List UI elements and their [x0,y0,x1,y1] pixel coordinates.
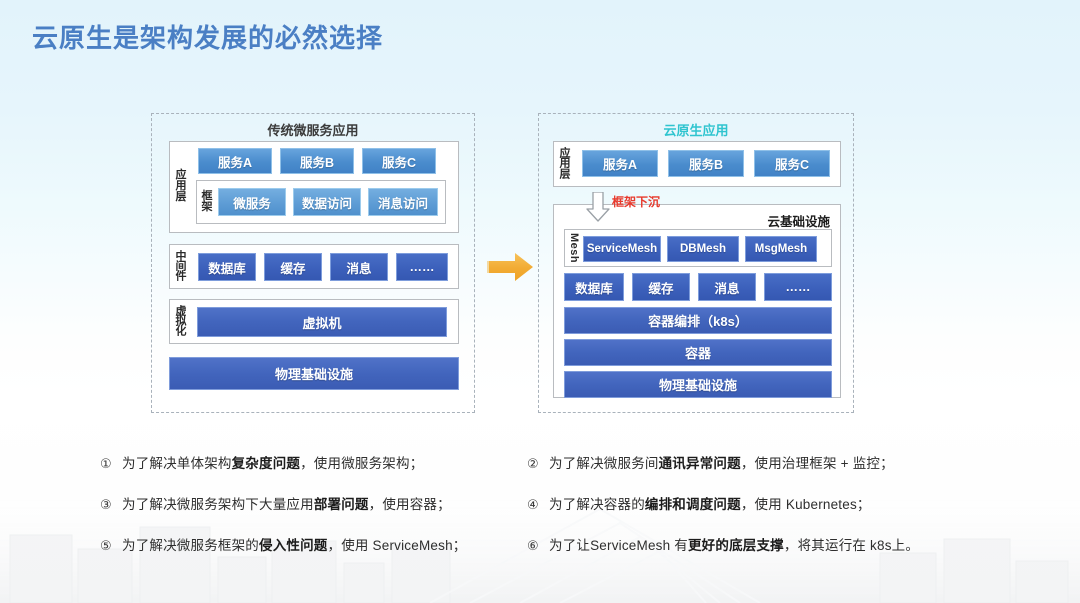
bullet-text-bold: 通讯异常问题 [659,456,741,471]
right-panel-title: 云原生应用 [539,120,853,139]
bullet-text-post: ，使用容器； [369,497,451,512]
bullet-column-left: ① 为了解决单体架构复杂度问题，使用微服务架构； ③ 为了解决微服务架构下大量应… [100,452,540,575]
bullet-item: ① 为了解决单体架构复杂度问题，使用微服务架构； [100,452,540,472]
bullet-text-pre: 为了解决微服务架构下大量应用 [122,497,314,512]
left-service-a[interactable]: 服务A [198,148,272,174]
bullet-text-pre: 为了解决微服务框架的 [122,538,259,553]
right-middleware-database[interactable]: 数据库 [564,273,624,301]
bullet-number: ⑤ [100,538,122,554]
page-title: 云原生是架构发展的必然选择 [32,18,383,55]
right-service-c[interactable]: 服务C [754,150,830,177]
bullet-text-bold: 更好的底层支撑 [688,538,784,553]
left-virtualization-label: 虚 拟 化 [174,306,188,337]
left-middleware-more[interactable]: …… [396,253,448,281]
bullet-text-pre: 为了让ServiceMesh 有 [549,538,688,553]
traditional-architecture-panel: 传统微服务应用 应 用 层 服务A 服务B 服务C 框 架 微服务 数据访问 消… [151,113,475,413]
left-framework-message-access[interactable]: 消息访问 [368,188,438,216]
bullet-text-post: ，使用微服务架构； [300,456,423,471]
bullet-text-bold: 侵入性问题 [259,538,328,553]
container-orchestration-bar[interactable]: 容器编排（k8s） [564,307,832,334]
bullet-item: ⑤ 为了解决微服务框架的侵入性问题，使用 ServiceMesh； [100,534,540,554]
cloud-infrastructure-caption: 云基础设施 [767,211,830,230]
bullet-number: ⑥ [527,538,549,554]
left-middleware-cache[interactable]: 缓存 [264,253,322,281]
left-panel-title: 传统微服务应用 [152,120,474,139]
bullet-item: ④ 为了解决容器的编排和调度问题，使用 Kubernetes； [527,493,967,513]
bullet-text-pre: 为了解决微服务间 [549,456,659,471]
bullet-text: 为了解决微服务间通讯异常问题，使用治理框架 + 监控； [549,452,894,472]
left-virtual-machine-bar[interactable]: 虚拟机 [197,307,447,337]
bullet-number: ② [527,456,549,472]
left-middleware-database[interactable]: 数据库 [198,253,256,281]
left-framework-group: 框 架 微服务 数据访问 消息访问 [196,180,446,224]
bullet-text-post: ，使用 ServiceMesh； [328,538,467,553]
left-service-c[interactable]: 服务C [362,148,436,174]
bullet-number: ① [100,456,122,472]
left-framework-data-access[interactable]: 数据访问 [293,188,361,216]
db-mesh-box[interactable]: DBMesh [667,236,739,262]
right-service-b[interactable]: 服务B [668,150,744,177]
framework-sink-label: 框架下沉 [612,193,660,210]
right-app-layer-label: 应 用 层 [558,148,572,179]
right-service-a[interactable]: 服务A [582,150,658,177]
msg-mesh-box[interactable]: MsgMesh [745,236,817,262]
bullet-number: ③ [100,497,122,513]
bullet-text-bold: 编排和调度问题 [645,497,741,512]
right-middleware-more[interactable]: …… [764,273,832,301]
bullet-item: ③ 为了解决微服务架构下大量应用部署问题，使用容器； [100,493,540,513]
left-app-layer-label: 应 用 层 [174,170,188,204]
right-physical-infrastructure-bar[interactable]: 物理基础设施 [564,371,832,398]
left-physical-infrastructure-bar[interactable]: 物理基础设施 [169,357,459,390]
bullet-number: ④ [527,497,549,513]
bullet-text-bold: 部署问题 [314,497,369,512]
bullet-text: 为了解决容器的编排和调度问题，使用 Kubernetes； [549,493,871,513]
left-service-b[interactable]: 服务B [280,148,354,174]
left-middleware-message[interactable]: 消息 [330,253,388,281]
left-framework-microservice[interactable]: 微服务 [218,188,286,216]
right-app-layer-group: 应 用 层 服务A 服务B 服务C [553,141,841,187]
bullet-text-post: ，将其运行在 k8s上。 [784,538,919,553]
cloud-infrastructure-group: 云基础设施 Mesh ServiceMesh DBMesh MsgMesh 数据… [553,204,841,398]
bullet-text-pre: 为了解决单体架构 [122,456,232,471]
mesh-group: Mesh ServiceMesh DBMesh MsgMesh [564,229,832,267]
bullet-text-post: ，使用治理框架 + 监控； [741,456,894,471]
bullet-text: 为了解决微服务框架的侵入性问题，使用 ServiceMesh； [122,534,466,554]
bullet-text: 为了让ServiceMesh 有更好的底层支撑，将其运行在 k8s上。 [549,534,919,554]
bullet-text-pre: 为了解决容器的 [549,497,645,512]
right-middleware-cache[interactable]: 缓存 [632,273,690,301]
bullet-text: 为了解决微服务架构下大量应用部署问题，使用容器； [122,493,451,513]
left-app-layer-group: 应 用 层 服务A 服务B 服务C 框 架 微服务 数据访问 消息访问 [169,141,459,233]
bullet-item: ② 为了解决微服务间通讯异常问题，使用治理框架 + 监控； [527,452,967,472]
bullet-item: ⑥ 为了让ServiceMesh 有更好的底层支撑，将其运行在 k8s上。 [527,534,967,554]
cloud-native-architecture-panel: 云原生应用 应 用 层 服务A 服务B 服务C 云基础设施 Mesh Servi… [538,113,854,413]
left-framework-label: 框 架 [200,191,214,213]
bullet-text-post: ，使用 Kubernetes； [741,497,871,512]
arrow-down-icon [586,192,610,222]
bullet-text-bold: 复杂度问题 [232,456,301,471]
arrow-right-icon [487,250,535,284]
left-virtualization-group: 虚 拟 化 虚拟机 [169,299,459,344]
bullet-column-right: ② 为了解决微服务间通讯异常问题，使用治理框架 + 监控； ④ 为了解决容器的编… [527,452,967,575]
slide-canvas: 云原生是架构发展的必然选择 传统微服务应用 应 用 层 服务A 服务B 服务C … [0,0,1080,603]
right-middleware-message[interactable]: 消息 [698,273,756,301]
left-middleware-label: 中 间 件 [174,251,188,282]
container-bar[interactable]: 容器 [564,339,832,366]
mesh-label: Mesh [568,233,580,263]
left-middleware-group: 中 间 件 数据库 缓存 消息 …… [169,244,459,289]
service-mesh-box[interactable]: ServiceMesh [583,236,661,262]
bullet-text: 为了解决单体架构复杂度问题，使用微服务架构； [122,452,423,472]
